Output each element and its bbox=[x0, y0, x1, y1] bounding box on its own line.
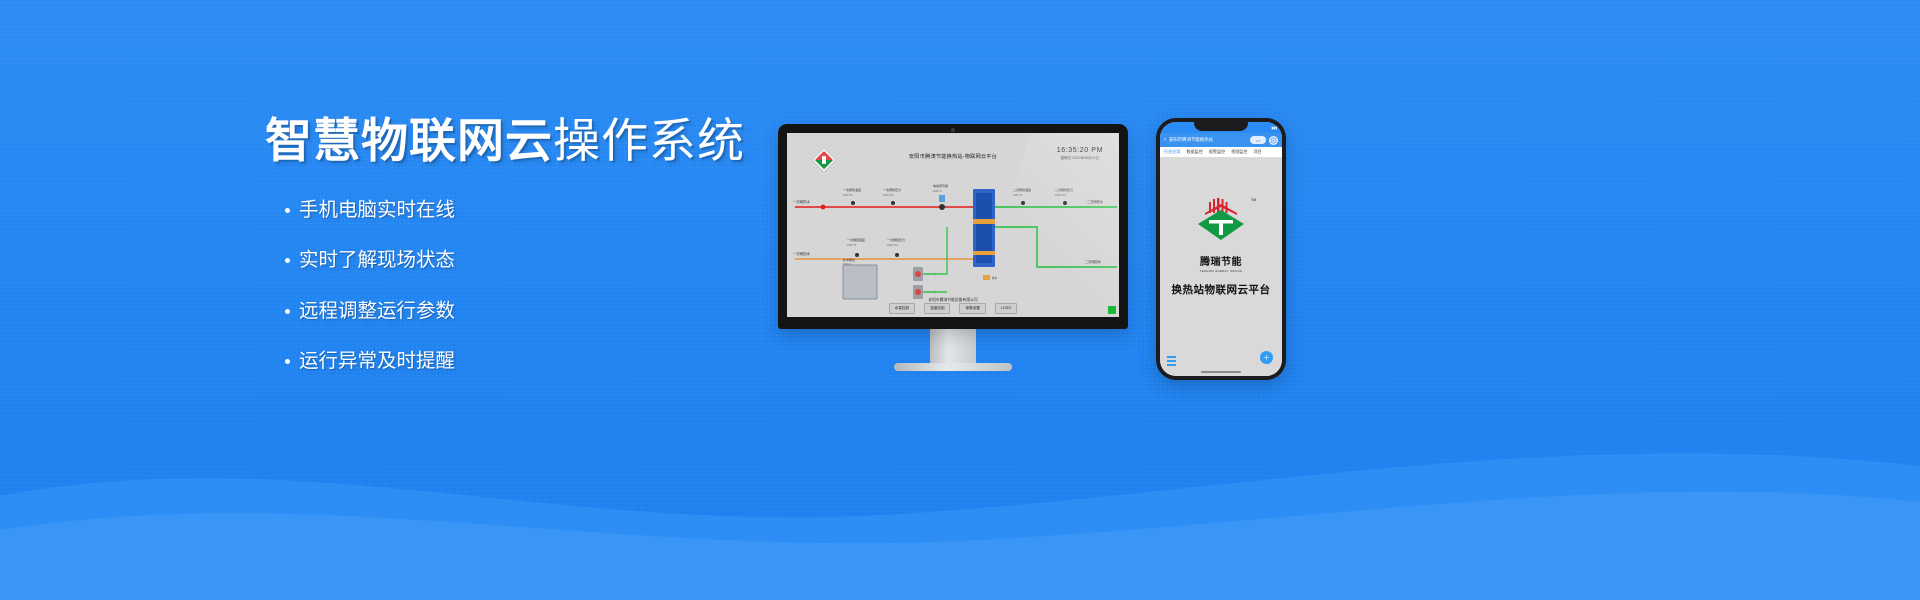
svg-text:一次网供水: 一次网供水 bbox=[793, 199, 811, 204]
svg-text:一次网回水: 一次网回水 bbox=[793, 251, 811, 256]
svg-text:#### kPa: #### kPa bbox=[887, 243, 899, 247]
desktop-monitor-mockup: 安阳市腾涛节能换热站-物联网云平台 16:35:20 PM 星期日 2020年0… bbox=[778, 124, 1128, 371]
svg-text:一次网供温度: 一次网供温度 bbox=[843, 187, 861, 192]
mobile-phone-mockup: ▮▮▮ ‹ 安阳市腾涛节能换热站 ••• 行业应用 数据监控 报警监控 视频监控… bbox=[1156, 118, 1286, 380]
webcam-icon bbox=[951, 128, 955, 132]
monitor-stand-neck bbox=[930, 329, 976, 363]
chevron-left-icon[interactable]: ‹ bbox=[1164, 137, 1166, 143]
list-item: 运行异常及时提醒 bbox=[285, 352, 825, 372]
svg-text:#### kPa: #### kPa bbox=[883, 193, 895, 197]
page-title-rest: 操作系统 bbox=[553, 114, 745, 167]
target-icon[interactable] bbox=[1269, 136, 1278, 145]
feature-label: 运行异常及时提醒 bbox=[299, 352, 455, 372]
bullet-dot-icon bbox=[285, 359, 290, 364]
temperature-control-button[interactable]: 温度控制 bbox=[924, 303, 950, 314]
phone-nav-title: 安阳市腾涛节能换热站 bbox=[1169, 137, 1247, 143]
phone-screen: ▮▮▮ ‹ 安阳市腾涛节能换热站 ••• 行业应用 数据监控 报警监控 视频监控… bbox=[1160, 122, 1282, 376]
svg-text:一次网回压力: 一次网回压力 bbox=[887, 237, 905, 242]
bullet-dot-icon bbox=[285, 208, 290, 213]
feature-label: 实时了解现场状态 bbox=[299, 251, 455, 271]
list-item: 手机电脑实时在线 bbox=[285, 201, 825, 221]
tab-data-monitor[interactable]: 数据监控 bbox=[1186, 149, 1202, 155]
phone-notch bbox=[1194, 122, 1248, 131]
brand-logo-icon bbox=[1194, 198, 1248, 242]
status-badge bbox=[1108, 306, 1116, 314]
feature-label: 远程调整运行参数 bbox=[299, 302, 455, 322]
more-icon[interactable]: ••• bbox=[1250, 136, 1266, 144]
svg-text:二次网供温度: 二次网供温度 bbox=[1013, 187, 1031, 192]
brand-name-en: TENGRUI ENERGY SAVING bbox=[1200, 269, 1243, 273]
platform-name: 换热站物联网云平台 bbox=[1172, 282, 1271, 297]
brand-name-cn: 腾瑞节能 bbox=[1200, 253, 1242, 268]
home-indicator bbox=[1201, 371, 1241, 373]
svg-text:二次网供水: 二次网供水 bbox=[1087, 199, 1104, 204]
tab-video-monitor[interactable]: 视频监控 bbox=[1231, 149, 1247, 155]
scada-schematic: 一次网供水 一次网供温度 #### ℃ 一次网供压力 #### kPa 电动调节… bbox=[787, 167, 1119, 307]
svg-text:#### ℃: #### ℃ bbox=[847, 243, 857, 247]
svg-text:一次网回温度: 一次网回温度 bbox=[847, 237, 865, 242]
clock-date: 星期日 2020年08月23日 bbox=[1057, 156, 1103, 161]
trademark-symbol: TM bbox=[1251, 198, 1256, 202]
tab-industry-apps[interactable]: 行业应用 bbox=[1164, 149, 1180, 155]
svg-text:#### ℃: #### ℃ bbox=[1013, 193, 1023, 197]
monitor-stand-base bbox=[894, 363, 1012, 371]
phone-nav-bar: ‹ 安阳市腾涛节能换热站 ••• bbox=[1160, 133, 1282, 147]
tab-alarm-monitor[interactable]: 报警监控 bbox=[1209, 149, 1225, 155]
tab-project[interactable]: 项目 bbox=[1254, 149, 1262, 155]
monitor-bezel: 安阳市腾涛节能换热站-物联网云平台 16:35:20 PM 星期日 2020年0… bbox=[778, 124, 1128, 329]
list-item: 远程调整运行参数 bbox=[285, 302, 825, 322]
plus-icon[interactable]: ＋ bbox=[1260, 351, 1273, 364]
bullet-dot-icon bbox=[285, 309, 290, 314]
status-bar-icons: ▮▮▮ bbox=[1271, 126, 1277, 130]
svg-text:二次网回水: 二次网回水 bbox=[1085, 259, 1102, 264]
svg-text:#### kPa: #### kPa bbox=[1055, 193, 1067, 197]
svg-text:电动调节阀: 电动调节阀 bbox=[933, 183, 948, 188]
svg-text:补水: 补水 bbox=[992, 276, 998, 280]
phone-tab-bar: 行业应用 数据监控 报警监控 视频监控 项目 bbox=[1160, 147, 1282, 158]
phone-main-content: TM 腾瑞节能 TENGRUI ENERGY SAVING 换热站物联网云平台 … bbox=[1160, 158, 1282, 376]
pump-control-button[interactable]: 水泵控制 bbox=[889, 303, 915, 314]
parameter-settings-button[interactable]: 参数设置 bbox=[959, 303, 985, 314]
phone-body: ▮▮▮ ‹ 安阳市腾涛节能换热站 ••• 行业应用 数据监控 报警监控 视频监控… bbox=[1156, 118, 1286, 380]
svg-text:#### %: #### % bbox=[933, 189, 942, 193]
svg-text:一次网供压力: 一次网供压力 bbox=[883, 187, 901, 192]
svg-text:#### ℃: #### ℃ bbox=[843, 193, 853, 197]
feature-label: 手机电脑实时在线 bbox=[299, 201, 455, 221]
svg-text:二次网供压力: 二次网供压力 bbox=[1055, 187, 1073, 192]
page-title-bold: 智慧物联网云 bbox=[265, 114, 553, 167]
feature-list: 手机电脑实时在线 实时了解现场状态 远程调整运行参数 运行异常及时提醒 bbox=[265, 201, 825, 372]
page-title: 智慧物联网云操作系统 bbox=[265, 115, 825, 167]
screen-clock: 16:35:20 PM 星期日 2020年08月23日 bbox=[1057, 147, 1103, 161]
background-wave bbox=[0, 410, 1920, 600]
clock-time: 16:35:20 PM bbox=[1057, 147, 1103, 154]
logo-button[interactable]: LOGO bbox=[995, 303, 1017, 314]
svg-text:补水箱位: 补水箱位 bbox=[843, 257, 855, 262]
monitor-screen: 安阳市腾涛节能换热站-物联网云平台 16:35:20 PM 星期日 2020年0… bbox=[787, 133, 1119, 317]
hero-copy: 智慧物联网云操作系统 手机电脑实时在线 实时了解现场状态 远程调整运行参数 运行… bbox=[265, 115, 825, 403]
phone-dock-lines-icon bbox=[1167, 356, 1176, 366]
svg-text:#### m: #### m bbox=[843, 262, 852, 266]
list-item: 实时了解现场状态 bbox=[285, 251, 825, 271]
bullet-dot-icon bbox=[285, 258, 290, 263]
screen-button-bar: 水泵控制 温度控制 参数设置 LOGO bbox=[787, 303, 1119, 314]
